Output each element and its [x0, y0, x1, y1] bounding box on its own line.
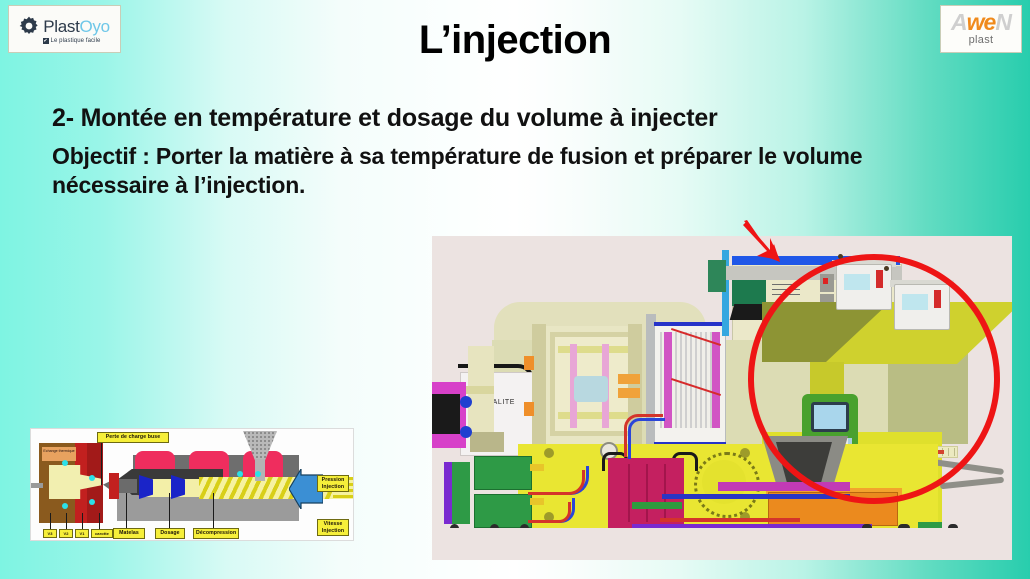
schema-label-decompression: Décompression — [193, 528, 239, 539]
chiller-unit-lower — [474, 494, 532, 528]
schema-thermal-exchange-label: Echange thermique — [42, 447, 76, 461]
schema-label-matelas: Matelas — [113, 528, 145, 539]
injection-machine-photo: QUALITE — [432, 236, 1012, 560]
schema-cooling-channel-d — [89, 499, 95, 505]
coolant-hose-red-a — [528, 470, 585, 495]
schema-label-vitesse-injection: Vitesse Injection — [317, 519, 349, 536]
robot-motor — [708, 260, 726, 292]
indicator-blue-b — [460, 426, 472, 438]
mold-core — [574, 376, 608, 402]
coolant-hose-blue-c — [628, 418, 665, 459]
schema-label-carotte: carotte — [91, 529, 113, 538]
schema-leader-decompression — [213, 493, 214, 529]
platen-left — [532, 324, 546, 446]
page-title: L’injection — [0, 18, 1030, 63]
clamp-actuator-a — [524, 356, 534, 370]
robot-arm-housing — [732, 280, 766, 306]
schema-cooling-channel-b — [62, 503, 68, 509]
schema-label-v3: V3 — [43, 529, 57, 538]
indicator-blue-a — [460, 396, 472, 408]
schema-leader-matelas — [126, 493, 127, 529]
floor-band — [432, 528, 1012, 544]
schema-leader-dosage — [169, 493, 170, 529]
schema-throat-cooling-a — [255, 471, 261, 477]
side-panel-dark — [432, 394, 460, 434]
schema-leader-carotte — [99, 513, 100, 530]
schema-sprue-tube — [31, 483, 43, 488]
barrel-edge-top — [654, 322, 726, 326]
schema-leader-v1 — [82, 513, 83, 530]
clamp-actuator-b — [524, 402, 534, 416]
annotation-arrow-icon — [740, 218, 786, 264]
objective-text: Objectif : Porter la matière à sa tempér… — [52, 142, 982, 201]
nozzle-heater-a — [618, 374, 640, 384]
schema-hopper-throat — [255, 459, 265, 481]
schema-leader-v3 — [50, 513, 51, 530]
schema-label-perte-de-charge-buse: Perte de charge buse — [97, 432, 169, 443]
coolant-hose-red-b — [528, 502, 571, 523]
injection-unit-schematic: Echange thermique — [30, 428, 354, 541]
section-heading: 2- Montée en température et dosage du vo… — [52, 104, 718, 133]
schema-label-pression-injection: Pression Injection — [317, 475, 349, 492]
nozzle-heater-b — [618, 388, 640, 398]
barrel-band-b — [712, 332, 720, 428]
schema-label-v1: V1 — [75, 529, 89, 538]
chiller-unit-upper — [474, 456, 532, 490]
ejector-foot — [470, 432, 504, 452]
schema-leader-v2 — [66, 513, 67, 530]
schema-nozzle-heater — [109, 473, 119, 499]
schema-cooling-channel-a — [62, 460, 68, 466]
schema-label-v2: V2 — [59, 529, 73, 538]
annotation-circle — [748, 254, 1000, 504]
floor-cable-red — [660, 518, 800, 522]
schema-label-dosage: Dosage — [155, 528, 185, 539]
base-bolt-a — [544, 448, 554, 458]
tie-bar-lower — [558, 412, 628, 419]
schema-throat-cooling-b — [237, 471, 243, 477]
lower-trim-green — [632, 502, 682, 509]
lower-trim-blue — [662, 494, 850, 499]
slide-canvas: PlastOyo ✔ Le plastique facile AweN plas… — [0, 0, 1030, 579]
schema-cooling-channel-c — [89, 475, 95, 481]
collection-bin-rib-c — [664, 464, 666, 522]
collection-bin-rib-b — [646, 464, 648, 522]
cart-tower-stripe — [444, 462, 452, 524]
schema-leader-perte — [101, 441, 102, 485]
collection-bin-rib-a — [628, 464, 630, 522]
tie-bar-upper — [558, 346, 628, 353]
